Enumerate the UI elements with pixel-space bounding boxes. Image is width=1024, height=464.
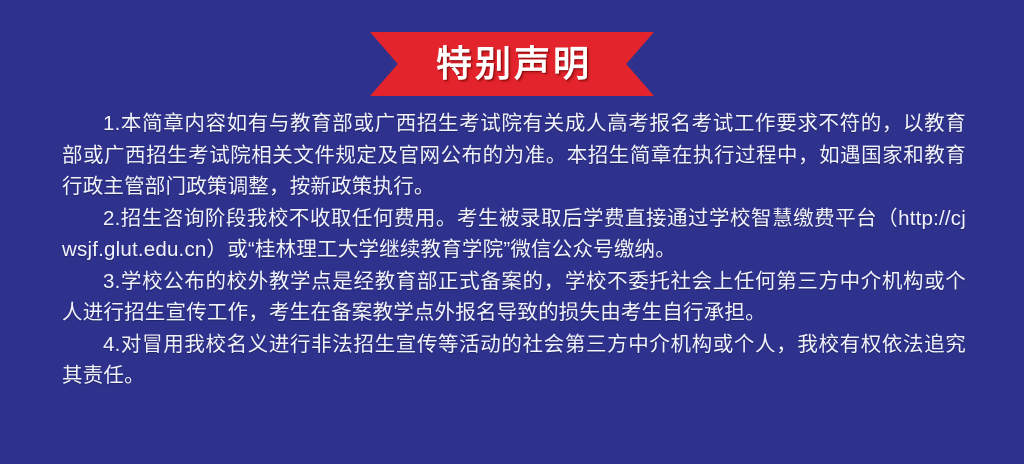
notice-paragraph-2: 2.招生咨询阶段我校不收取任何费用。考生被录取后学费直接通过学校智慧缴费平台（h… xyxy=(62,203,966,266)
special-statement-poster: 特别声明 1.本简章内容如有与教育部或广西招生考试院有关成人高考报名考试工作要求… xyxy=(0,0,1024,464)
notice-paragraph-1: 1.本简章内容如有与教育部或广西招生考试院有关成人高考报名考试工作要求不符的，以… xyxy=(62,108,966,203)
banner-title: 特别声明 xyxy=(432,46,592,82)
ribbon-banner: 特别声明 xyxy=(370,32,654,96)
notice-paragraph-3: 3.学校公布的校外教学点是经教育部正式备案的，学校不委托社会上任何第三方中介机构… xyxy=(62,266,966,329)
banner-container: 特别声明 xyxy=(0,32,1024,96)
notice-paragraph-4: 4.对冒用我校名义进行非法招生宣传等活动的社会第三方中介机构或个人，我校有权依法… xyxy=(62,329,966,392)
notice-body: 1.本简章内容如有与教育部或广西招生考试院有关成人高考报名考试工作要求不符的，以… xyxy=(62,108,966,392)
